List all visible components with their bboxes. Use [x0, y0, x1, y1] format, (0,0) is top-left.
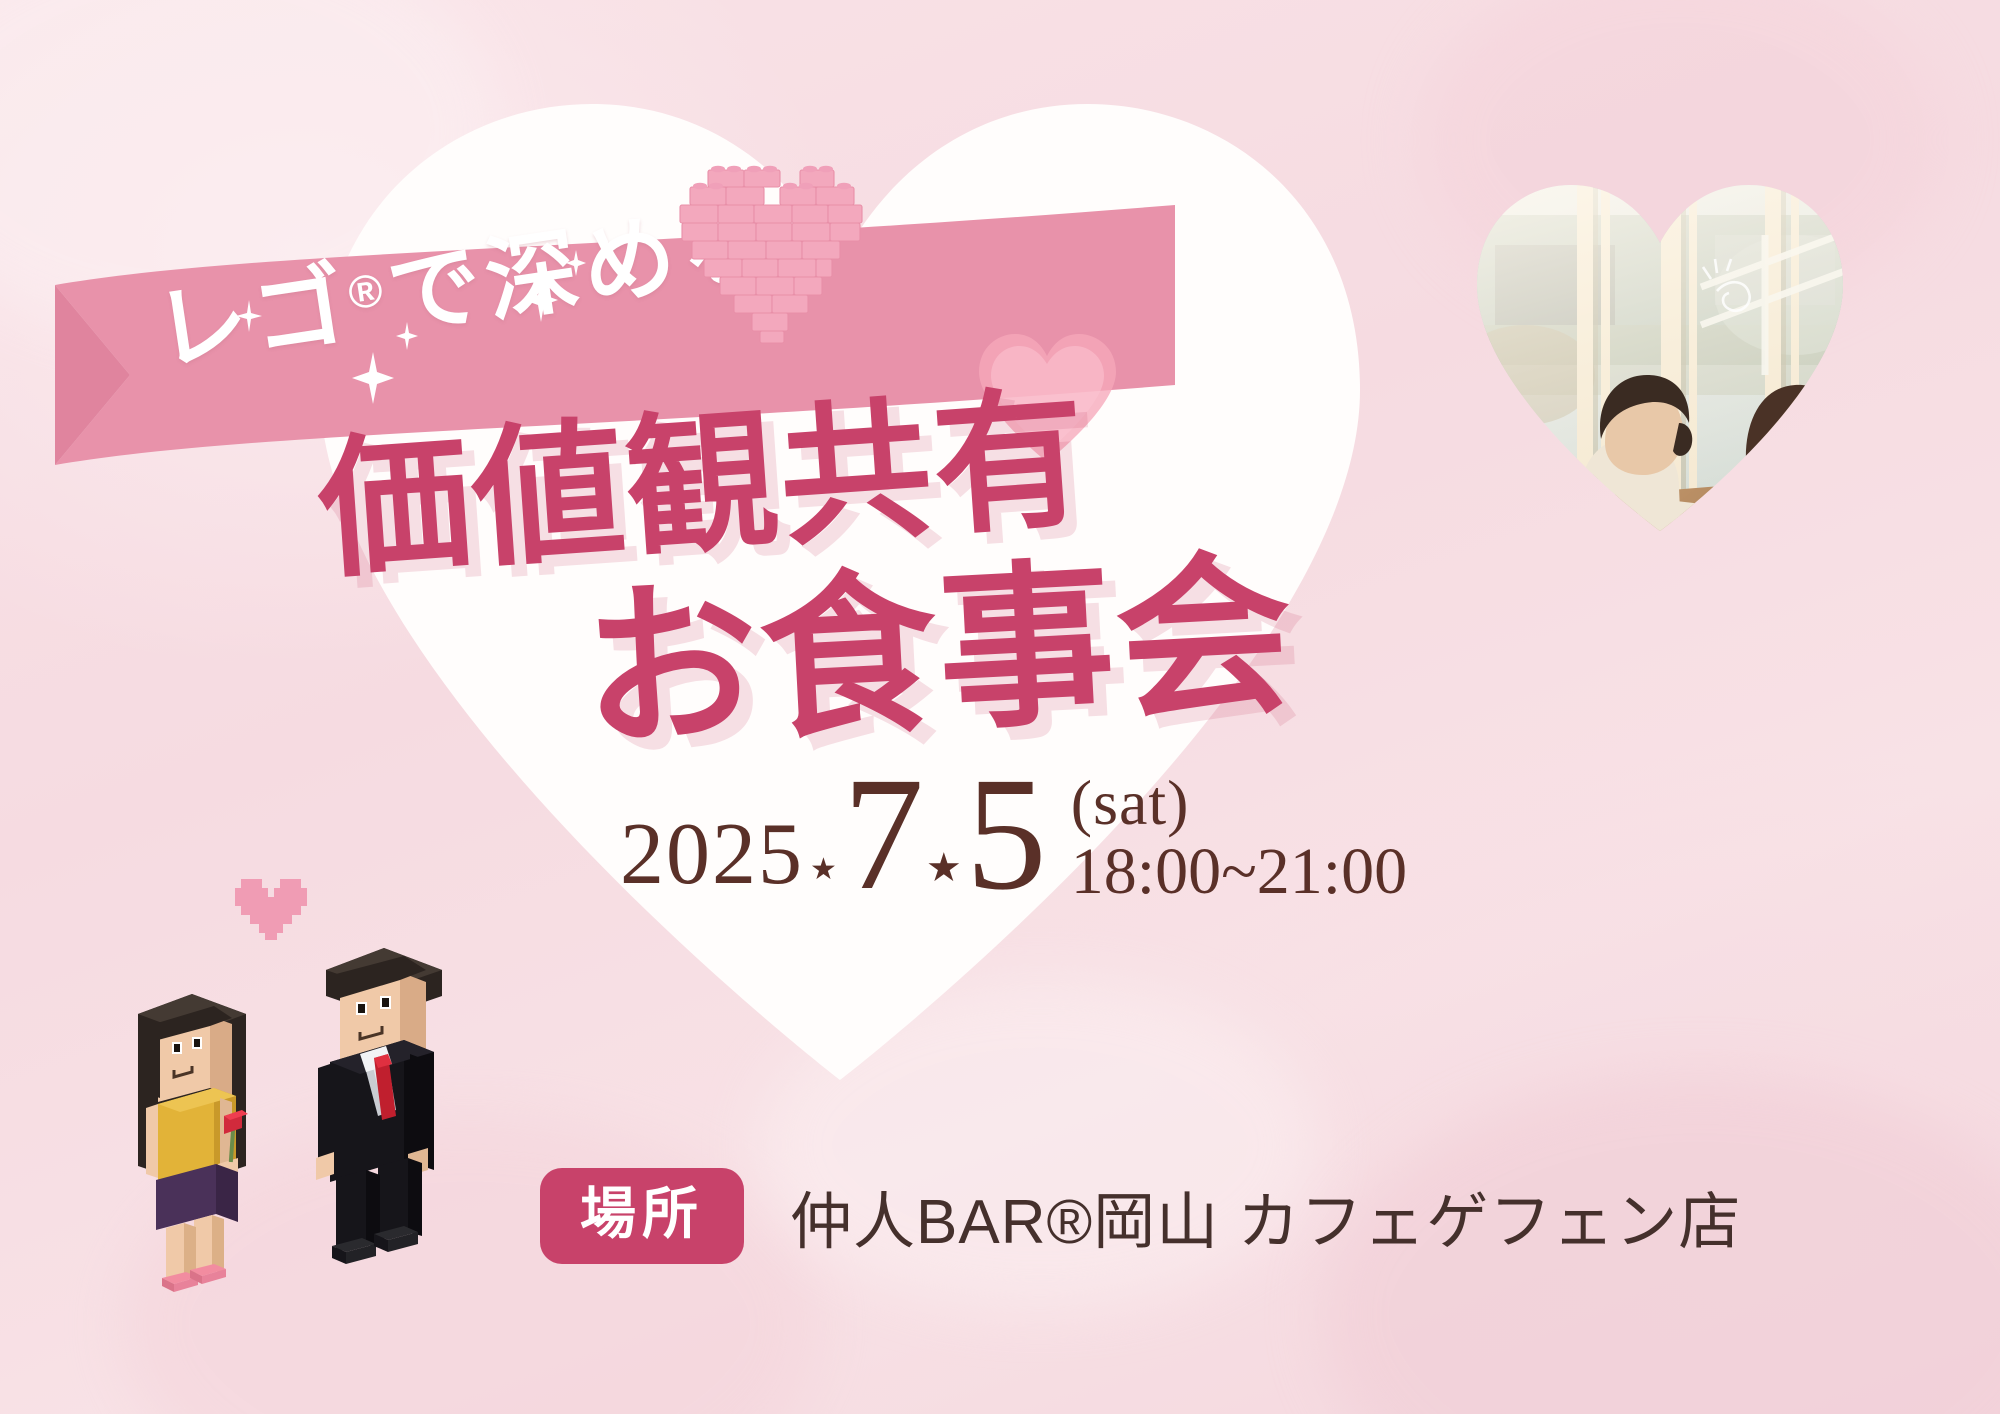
- venue-name: 仲人BAR®岡山 カフェゲフェン店: [790, 1171, 1741, 1261]
- page-title-line-2: お食事会: [575, 491, 1299, 783]
- event-date-block: 2025 ★ 7 ★ 5 (sat) 18:00~21:00: [620, 760, 1407, 911]
- ribbon-title-lego: レゴ: [149, 253, 358, 383]
- pixel-heart-icon: [232, 870, 310, 940]
- event-poster: レゴ®で深める: [0, 0, 2000, 1414]
- star-separator-icon: ★: [922, 844, 966, 911]
- venue-badge: 場所: [540, 1168, 744, 1264]
- heart-photo-frame: [1465, 175, 1855, 535]
- voxel-man-figure: [300, 930, 460, 1278]
- event-weekday: (sat): [1071, 770, 1407, 837]
- voxel-woman-figure: [118, 978, 266, 1298]
- event-month: 7: [843, 760, 922, 911]
- event-day: 5: [966, 760, 1045, 911]
- lego-brick-heart-icon: [672, 150, 872, 345]
- event-time: 18:00~21:00: [1071, 837, 1407, 907]
- star-separator-icon: ★: [804, 852, 843, 911]
- event-year: 2025: [620, 811, 804, 911]
- venue-block: 場所 仲人BAR®岡山 カフェゲフェン店: [540, 1168, 1741, 1264]
